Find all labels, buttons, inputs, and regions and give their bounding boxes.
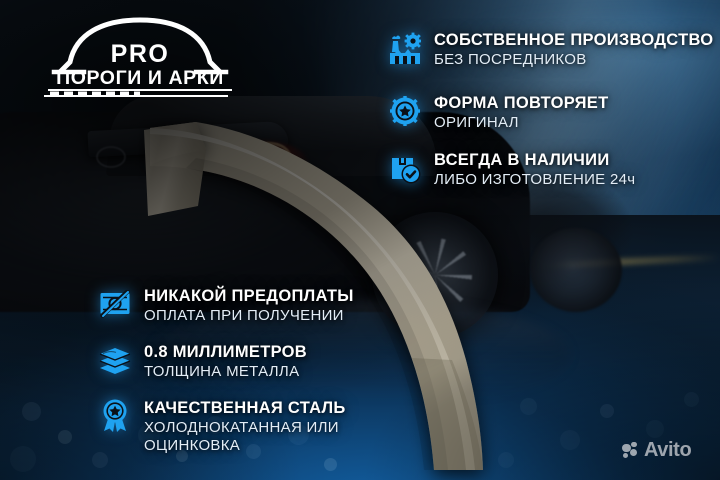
- feature-subtitle: БЕЗ ПОСРЕДНИКОВ: [434, 51, 713, 69]
- feature-title: ВСЕГДА В НАЛИЧИИ: [434, 151, 610, 169]
- promo-image: PRO ПОРОГИ И АРКИ: [0, 0, 720, 480]
- feature-subtitle: ОПЛАТА ПРИ ПОЛУЧЕНИИ: [144, 307, 354, 325]
- feature-subtitle: ЛИБО ИЗГОТОВЛЕНИЕ 24ч: [434, 171, 635, 189]
- brand-logo: PRO ПОРОГИ И АРКИ: [40, 14, 240, 98]
- feature-subtitle: ХОЛОДНОКАТАННАЯ ИЛИ ОЦИНКОВКА: [144, 419, 376, 454]
- avito-label: Avito: [644, 440, 691, 460]
- metal-layers-icon: [98, 342, 132, 378]
- feature-title: НИКАКОЙ ПРЕДОПЛАТЫ: [144, 287, 354, 305]
- award-ribbon-icon: [98, 398, 132, 434]
- logo-wordmark: ПОРОГИ И АРКИ: [56, 67, 224, 89]
- feature-subtitle: ТОЛЩИНА МЕТАЛЛА: [144, 363, 307, 381]
- box-check-icon: [388, 150, 422, 186]
- avito-watermark: Avito: [622, 440, 691, 460]
- feature-subtitle: ОРИГИНАЛ: [434, 114, 608, 132]
- feature-shape: ФОРМА ПОВТОРЯЕТ ОРИГИНАЛ: [388, 93, 608, 132]
- feature-steel: КАЧЕСТВЕННАЯ СТАЛЬ ХОЛОДНОКАТАННАЯ ИЛИ О…: [98, 398, 376, 454]
- feature-title: 0.8 МИЛЛИМЕТРОВ: [144, 343, 307, 361]
- avito-dots-icon: [622, 442, 639, 459]
- no-cash-icon: [98, 286, 132, 322]
- logo-pro-text: PRO: [111, 40, 170, 68]
- feature-title: ФОРМА ПОВТОРЯЕТ: [434, 94, 608, 112]
- factory-gear-icon: [388, 30, 422, 66]
- feature-production: СОБСТВЕННОЕ ПРОИЗВОДСТВО БЕЗ ПОСРЕДНИКОВ: [388, 30, 713, 69]
- feature-title: СОБСТВЕННОЕ ПРОИЗВОДСТВО: [434, 31, 713, 49]
- badge-star-gear-icon: [388, 93, 422, 129]
- feature-thickness: 0.8 МИЛЛИМЕТРОВ ТОЛЩИНА МЕТАЛЛА: [98, 342, 307, 381]
- feature-title: КАЧЕСТВЕННАЯ СТАЛЬ: [144, 399, 346, 417]
- feature-prepayment: НИКАКОЙ ПРЕДОПЛАТЫ ОПЛАТА ПРИ ПОЛУЧЕНИИ: [98, 286, 354, 325]
- feature-stock: ВСЕГДА В НАЛИЧИИ ЛИБО ИЗГОТОВЛЕНИЕ 24ч: [388, 150, 635, 189]
